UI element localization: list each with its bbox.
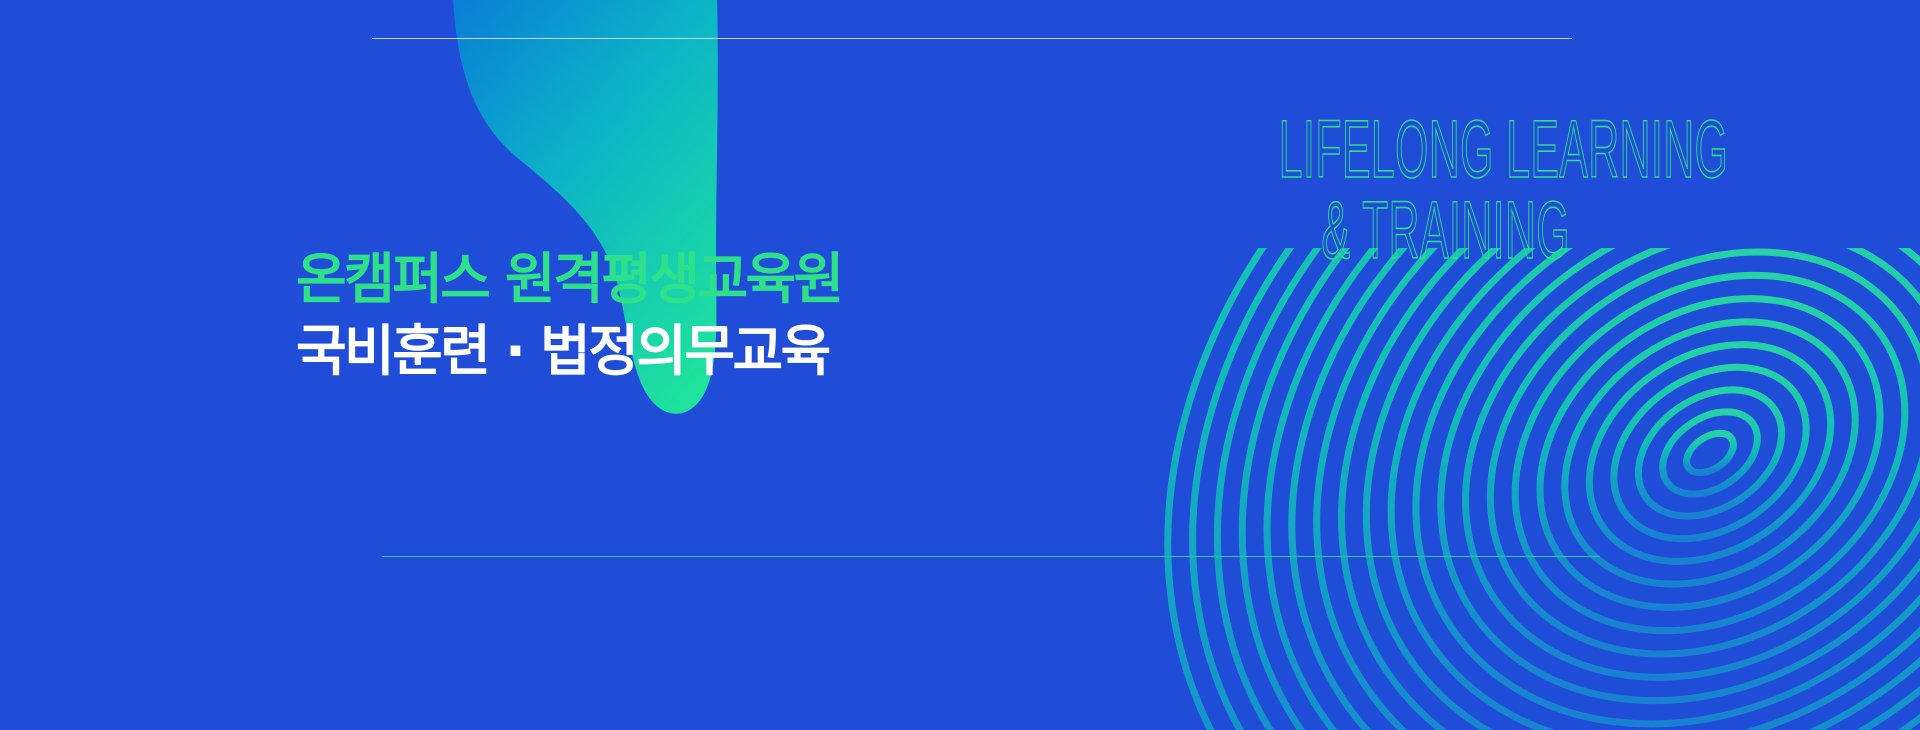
korean-headline-line-2: 국비훈련 · 법정의무교육 xyxy=(296,324,842,379)
bottom-divider-rule xyxy=(382,556,1600,557)
promo-banner: LIFELONG LEARNING & TRAINING 온캠퍼스 원격평생교육… xyxy=(0,0,1920,730)
english-headline: LIFELONG LEARNING & TRAINING xyxy=(1010,112,1570,269)
korean-headline-line-1: 온캠퍼스 원격평생교육원 xyxy=(296,252,842,307)
top-divider-rule xyxy=(372,38,1572,39)
korean-headline: 온캠퍼스 원격평생교육원 국비훈련 · 법정의무교육 xyxy=(296,252,842,379)
english-headline-line-2: & TRAINING xyxy=(1279,193,1570,268)
gradient-blob xyxy=(0,0,1920,730)
fingerprint-arcs xyxy=(1020,248,1920,730)
english-headline-line-1: LIFELONG LEARNING xyxy=(1279,112,1570,187)
